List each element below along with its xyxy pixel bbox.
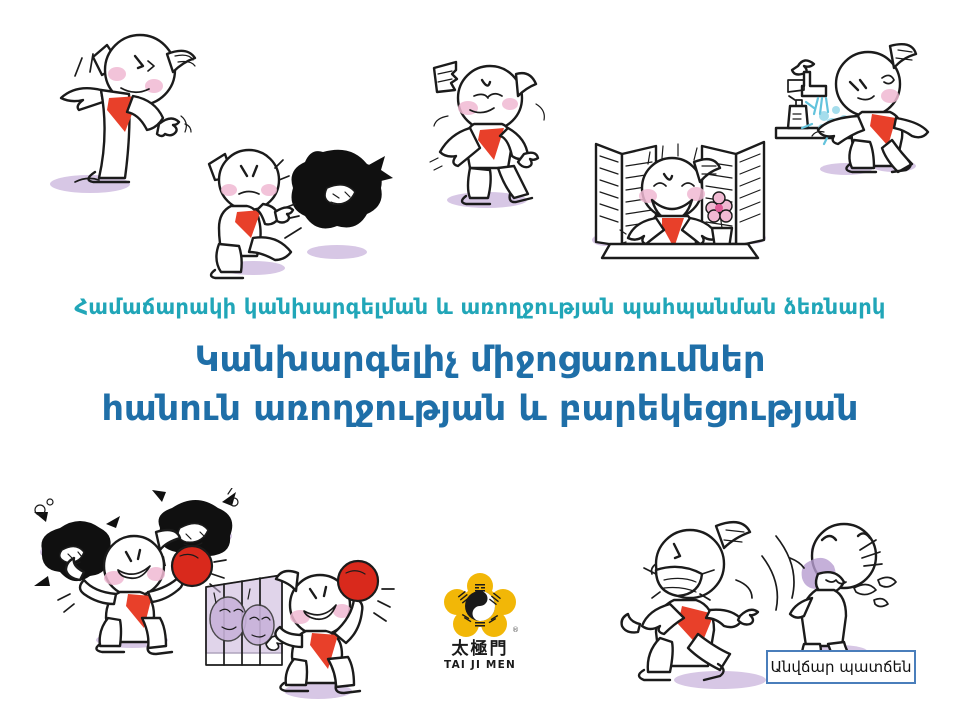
headline-line-1: Կանխարգելիչ միջոցառումներ [0, 336, 960, 385]
illustration-cartoon-kid-caging-viruses [192, 545, 397, 705]
illustration-cartoon-kid-kicking-virus [175, 140, 395, 280]
illustration-cartoon-kid-exercising [412, 52, 577, 217]
free-copy-caption-label: Անվճար պատճեն [770, 658, 911, 676]
logo-english-text: TAI JI MEN [438, 659, 522, 672]
title-text-block: Համաճարակի կանխարգելման և առողջության պա… [0, 292, 960, 434]
svg-text:®: ® [512, 626, 519, 634]
subtitle-line: Համաճարակի կանխարգելման և առողջության պա… [0, 292, 960, 322]
free-copy-caption-box[interactable]: Անվճար պատճեն [766, 650, 916, 684]
slide-canvas: Համաճարակի կանխարգելման և առողջության պա… [0, 0, 960, 720]
illustration-cartoon-kid-at-window [592, 122, 767, 282]
headline: Կանխարգելիչ միջոցառումներ հանուն առողջու… [0, 336, 960, 434]
logo-chinese-text: 太極門 [438, 639, 522, 659]
headline-line-2: հանուն առողջության և բարեկեցության [0, 385, 960, 434]
illustration-cartoon-kid-washing-hands [762, 24, 942, 182]
plum-blossom-yinyang-icon: ® [438, 572, 522, 638]
tai-ji-men-logo: ® 太極門 TAI JI MEN [438, 572, 522, 676]
